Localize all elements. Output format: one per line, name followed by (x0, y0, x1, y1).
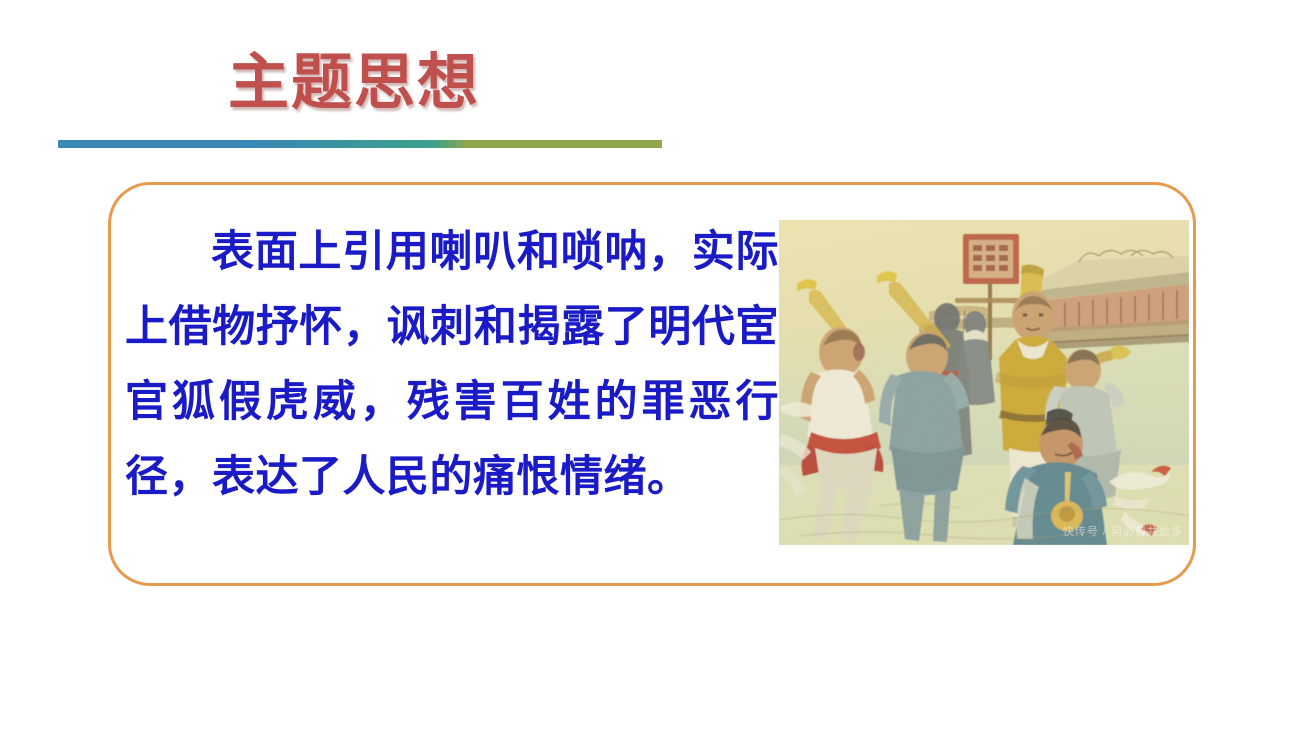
illustration-painting: 快传号 / 何必曾共此多 (779, 220, 1189, 545)
content-box: 表面上引用喇叭和唢呐，实际上借物抒怀，讽刺和揭露了明代宦官狐假虎威，残害百姓的罪… (108, 182, 1196, 586)
page-title: 主题思想 (228, 50, 480, 114)
painting-canvas (779, 220, 1189, 545)
title-block: 主题思想 (58, 44, 662, 156)
slide-root: 主题思想 表面上引用喇叭和唢呐，实际上借物抒怀，讽刺和揭露了明代宦官狐假虎威，残… (0, 0, 1296, 729)
title-divider-rule (58, 140, 662, 148)
theme-body-text: 表面上引用喇叭和唢呐，实际上借物抒怀，讽刺和揭露了明代宦官狐假虎威，残害百姓的罪… (125, 215, 779, 515)
